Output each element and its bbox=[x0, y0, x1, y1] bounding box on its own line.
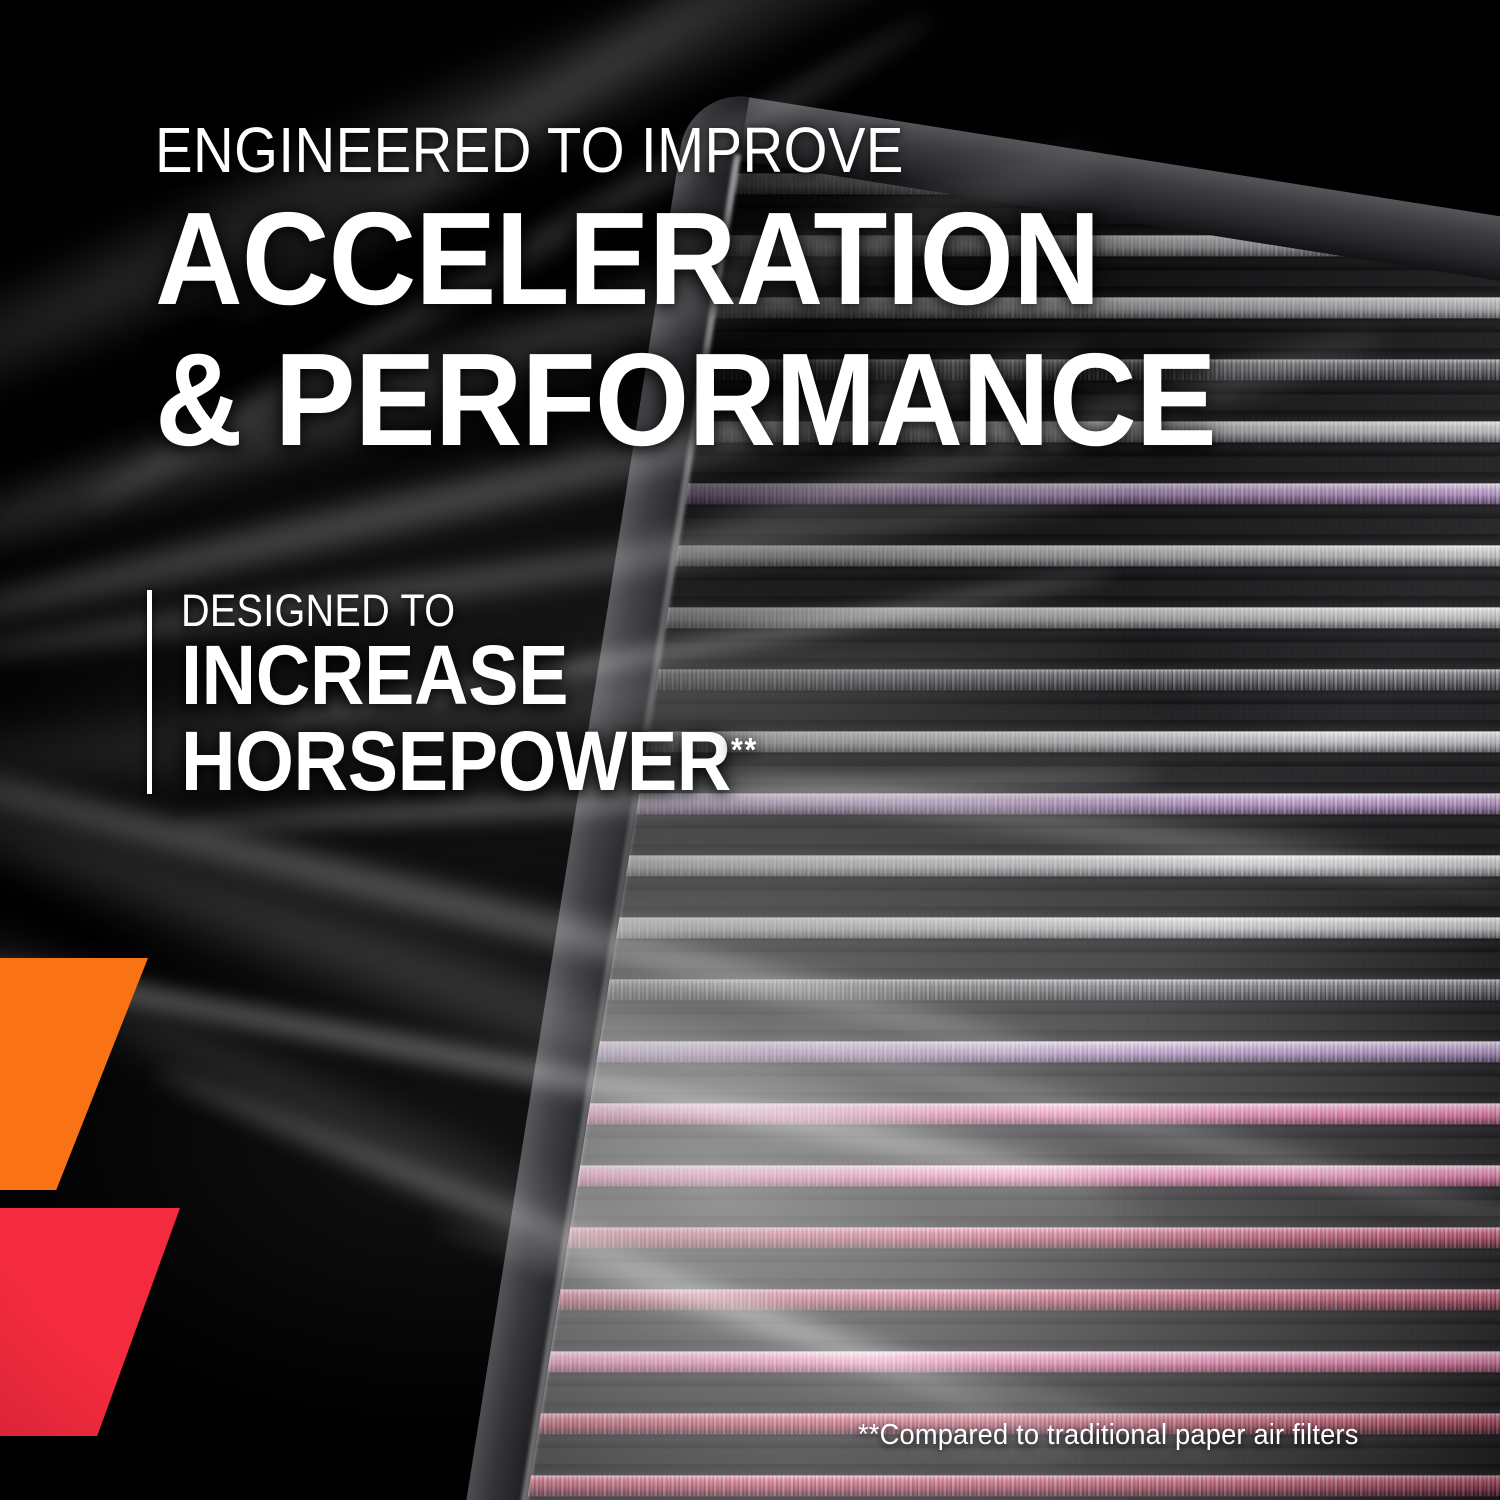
pleat-tint bbox=[481, 1289, 1500, 1310]
pleat-tint bbox=[481, 1475, 1500, 1496]
pleat-tint bbox=[481, 1351, 1500, 1372]
subhead-line-1: INCREASE bbox=[181, 633, 758, 719]
pleat-tint bbox=[481, 1041, 1500, 1062]
pleat-tint bbox=[481, 1103, 1500, 1124]
filter-pleat bbox=[481, 1092, 1500, 1138]
subhead-accent-rule bbox=[147, 590, 152, 794]
headline-kicker: ENGINEERED TO IMPROVE bbox=[155, 118, 1170, 182]
orange-chevron-mark bbox=[0, 958, 148, 1190]
filter-pleat bbox=[481, 1154, 1500, 1200]
promo-canvas: ENGINEERED TO IMPROVE ACCELERATION & PER… bbox=[0, 0, 1500, 1500]
subhead-line-2: HORSEPOWER** bbox=[181, 719, 758, 805]
headline-line-1: ACCELERATION bbox=[155, 194, 1216, 323]
subhead-block: DESIGNED TO INCREASE HORSEPOWER** bbox=[155, 588, 822, 804]
footnote-marker: ** bbox=[731, 732, 758, 769]
filter-pleat bbox=[481, 1216, 1500, 1262]
footnote-text: **Compared to traditional paper air filt… bbox=[858, 1419, 1359, 1452]
filter-pleat bbox=[481, 968, 1500, 1014]
red-chevron-mark bbox=[0, 1208, 180, 1436]
pleat-tint bbox=[481, 1227, 1500, 1248]
headline-line-2: & PERFORMANCE bbox=[155, 335, 1216, 464]
headline-block: ENGINEERED TO IMPROVE ACCELERATION & PER… bbox=[155, 118, 1308, 465]
subhead-kicker: DESIGNED TO bbox=[181, 588, 745, 633]
filter-pleat bbox=[481, 1340, 1500, 1386]
subhead-line-2-text: HORSEPOWER bbox=[181, 714, 731, 808]
pleat-tint bbox=[481, 855, 1500, 876]
pleat-tint bbox=[481, 979, 1500, 1000]
filter-pleat bbox=[481, 1464, 1500, 1500]
filter-pleat bbox=[481, 1278, 1500, 1324]
pleat-tint bbox=[481, 1165, 1500, 1186]
pleat-tint bbox=[481, 917, 1500, 938]
filter-pleat bbox=[481, 1030, 1500, 1076]
filter-pleat bbox=[481, 906, 1500, 952]
filter-pleat bbox=[481, 844, 1500, 890]
